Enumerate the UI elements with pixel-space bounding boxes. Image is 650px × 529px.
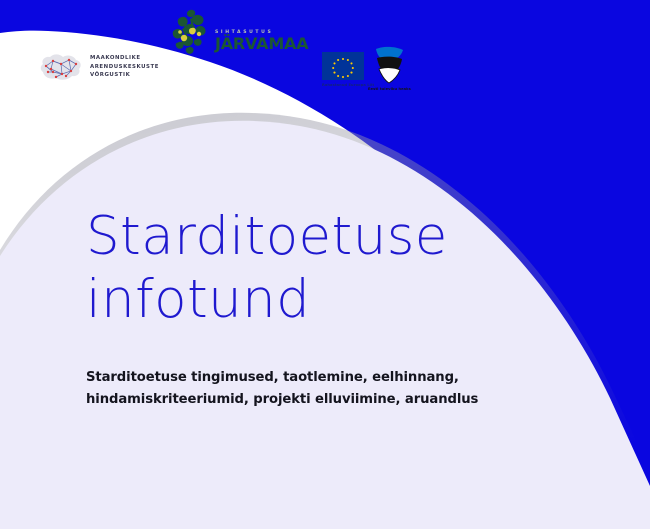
presentation-slide: MAAKONDLIKEARENDUSKESKUSTEVÕRGUSTIK bbox=[0, 0, 650, 529]
slide-content: Starditoetuse infotund Starditoetuse tin… bbox=[86, 205, 586, 411]
logo-jarvamaa-name: JÄRVAMAA bbox=[215, 36, 308, 51]
logo-strip: MAAKONDLIKEARENDUSKESKUSTEVÕRGUSTIK bbox=[0, 0, 650, 105]
logo-mak-line-2: ARENDUSKESKUSTE bbox=[90, 64, 159, 70]
logo-jarvamaa: SIHTASUTUS JÄRVAMAA bbox=[170, 8, 308, 55]
logo-eu-caption: Rahastanud Euroopa Liit bbox=[322, 83, 374, 88]
logo-jarvamaa-text: SIHTASUTUS JÄRVAMAA bbox=[215, 30, 308, 51]
estonia-seal-icon bbox=[371, 46, 407, 84]
eu-flag-icon bbox=[322, 52, 364, 80]
slide-title: Starditoetuse infotund bbox=[86, 205, 586, 331]
slide-subtitle: Starditoetuse tingimused, taotlemine, ee… bbox=[86, 367, 546, 411]
network-map-icon bbox=[38, 50, 84, 84]
logo-estonia-caption: Eesti tuleviku heaks bbox=[368, 87, 411, 92]
logo-estonia: Eesti tuleviku heaks bbox=[368, 46, 411, 92]
logo-eu: Rahastanud Euroopa Liit bbox=[322, 52, 374, 88]
logo-mak-network: MAAKONDLIKEARENDUSKESKUSTEVÕRGUSTIK bbox=[38, 50, 159, 84]
logo-mak-line-1: MAAKONDLIKE bbox=[90, 55, 141, 61]
logo-mak-line-3: VÕRGUSTIK bbox=[90, 72, 130, 78]
logo-mak-text: MAAKONDLIKEARENDUSKESKUSTEVÕRGUSTIK bbox=[90, 54, 159, 79]
jarvamaa-foliage-icon bbox=[170, 8, 214, 55]
